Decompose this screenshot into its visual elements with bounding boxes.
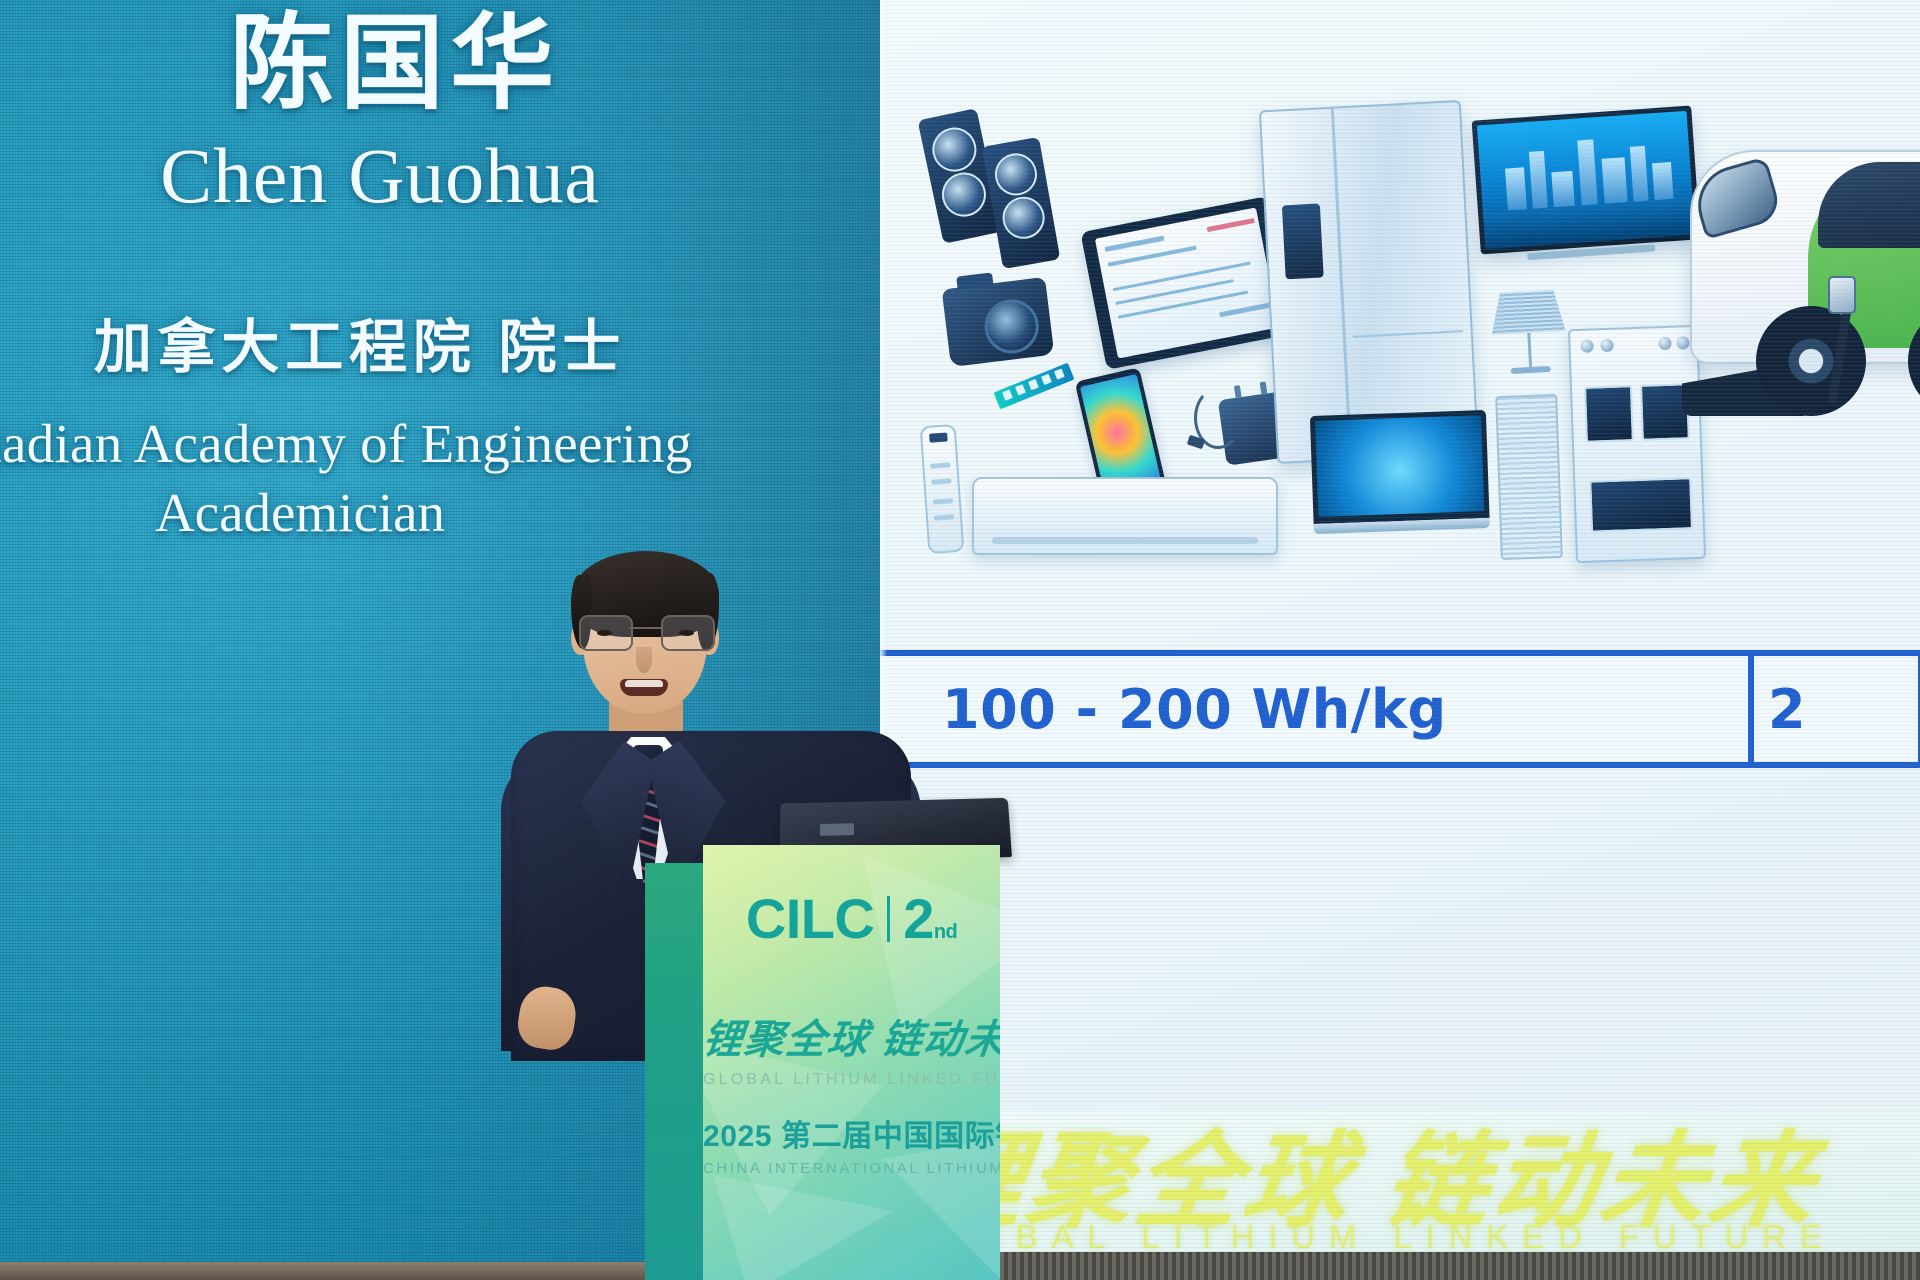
camera-icon (942, 277, 1055, 367)
podium: CILC 2 nd 锂聚全球 链动未来 GLOBAL LITHIUM LINKE… (645, 845, 1000, 1280)
refrigerator-icon (1259, 100, 1479, 464)
cilc-divider (887, 896, 890, 942)
podium-slogan-chinese: 锂聚全球 链动未来 (703, 1007, 1000, 1065)
laptop-icon (1310, 410, 1490, 540)
eyeglasses (579, 615, 711, 649)
banner-slogan-english: GLOBAL LITHIUM LINKED FUTURE (880, 1218, 1920, 1256)
bottom-led-banner: 锂聚全球 链动未来 GLOBAL LITHIUM LINKED FUTURE (880, 1110, 1920, 1260)
cilc-logo-text: CILC 2 nd (746, 891, 957, 947)
charging-plug-head (1828, 276, 1856, 314)
affiliation-english-line1: Canadian Academy of Engineering (0, 412, 880, 475)
tablet-icon (1080, 196, 1293, 370)
remote-control-icon (920, 424, 965, 554)
speaker-affiliation-block: 加拿大工程院 院士 Canadian Academy of Engineerin… (0, 300, 880, 544)
glasses-bridge (629, 627, 661, 629)
conference-photo: 陈国华 Chen Guohua 加拿大工程院 院士 Canadian Acade… (0, 0, 1920, 1280)
podium-facet-4 (713, 1175, 893, 1280)
speaker-name-block: 陈国华 Chen Guohua (0, 10, 880, 219)
conference-title-english: CHINA INTERNATIONAL LITHIUM CONFERENCE (703, 1160, 1000, 1177)
teeth (625, 680, 663, 687)
ram-module-icon (994, 363, 1075, 410)
energy-density-value-1: 100 - 200 Wh/kg (880, 678, 1447, 741)
eye-right (679, 630, 694, 636)
affiliation-english-line2: Academician (0, 481, 880, 544)
car-front-wheel (1756, 306, 1866, 416)
podium-front-panel: CILC 2 nd 锂聚全球 链动未来 GLOBAL LITHIUM LINKE… (703, 845, 1000, 1280)
banner-slogan-chinese: 锂聚全球 链动未来 (880, 1110, 1920, 1247)
tower-fan-icon (1495, 394, 1563, 560)
lens-right (661, 615, 715, 651)
eye-left (597, 630, 612, 636)
cilc-logo: CILC 2 nd (703, 891, 1000, 947)
laptop-badge (820, 823, 854, 836)
cilc-letters: CILC (746, 891, 874, 947)
speaker-name-chinese: 陈国华 (0, 10, 880, 119)
lens-left (579, 615, 633, 651)
cilc-edition-suffix: nd (934, 922, 957, 942)
speaker-name-english: Chen Guohua (0, 133, 880, 219)
speaker-right-icon (982, 137, 1061, 269)
nose (636, 647, 652, 673)
podium-conference-title: 2025 第二届中国国际锂业大会 CHINA INTERNATIONAL LIT… (703, 1111, 1000, 1177)
energy-density-box-2: 2 (1754, 650, 1920, 768)
consumer-devices-montage (920, 95, 1680, 535)
podium-side-panel (645, 863, 705, 1280)
cilc-edition-number: 2 (903, 891, 934, 947)
energy-density-box-1: 100 - 200 Wh/kg (880, 650, 1754, 768)
conference-title-chinese: 2025 第二届中国国际锂业大会 (703, 1111, 1000, 1155)
electric-car-graphic (1690, 110, 1920, 440)
banner-bottom-grille (880, 1252, 1920, 1280)
affiliation-chinese: 加拿大工程院 院士 (0, 300, 880, 384)
presentation-slide: 100 - 200 Wh/kg 2 (880, 0, 1920, 1110)
podium-slogan-english: GLOBAL LITHIUM LINKED FUTURE (703, 1071, 1000, 1089)
oven-icon (1568, 325, 1706, 563)
air-conditioner-icon (972, 477, 1278, 555)
energy-density-value-2: 2 (1754, 678, 1806, 741)
television-icon (1472, 105, 1701, 254)
desk-lamp-icon (1490, 289, 1569, 385)
podium-slogan: 锂聚全球 链动未来 GLOBAL LITHIUM LINKED FUTURE (703, 1007, 1000, 1089)
